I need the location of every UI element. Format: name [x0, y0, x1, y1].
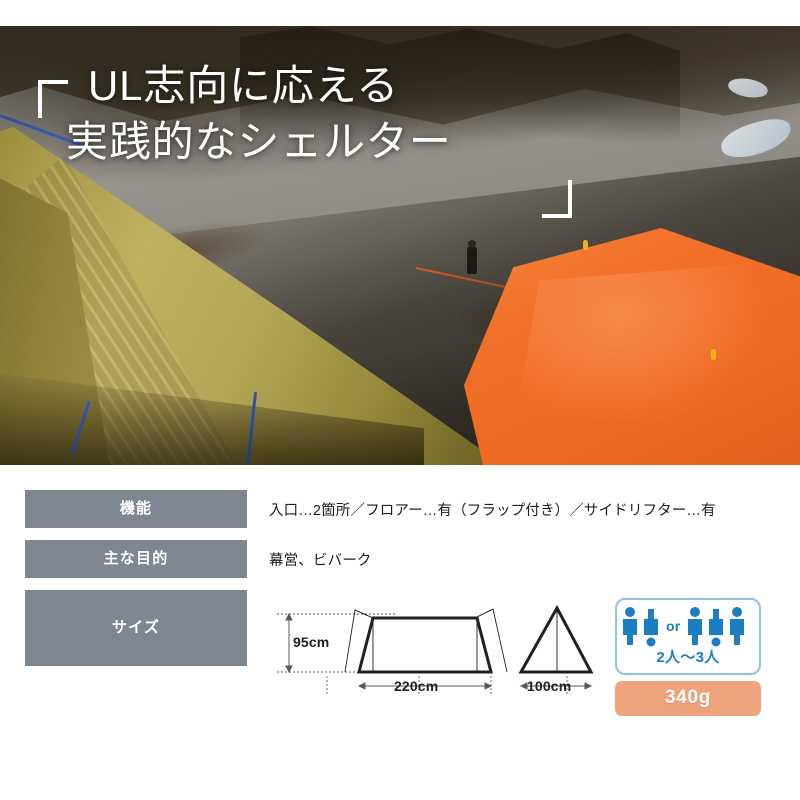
front-width-label: 220cm — [394, 678, 438, 694]
side-width-label: 100cm — [527, 678, 571, 694]
capacity-people-icons: or — [617, 605, 757, 649]
hero-headline-line-2: 実践的なシェルター — [30, 114, 590, 170]
person-icon-3 — [730, 607, 744, 645]
spec-value-features: 入口…2箇所／フロアー…有（フラップ付き）／サイドリフター…有 — [247, 490, 800, 523]
person-icon-inverted-1 — [644, 609, 658, 647]
hero-headline-line-1: UL志向に応える — [30, 58, 590, 114]
capacity-weight-block: or — [615, 598, 761, 716]
side-view-body — [521, 608, 591, 672]
person-icon-2 — [688, 607, 702, 645]
front-view-body — [359, 618, 491, 672]
quote-close-mark — [542, 180, 572, 218]
capacity-or-label: or — [666, 618, 681, 634]
spec-row-features: 機能 入口…2箇所／フロアー…有（フラップ付き）／サイドリフター…有 — [0, 490, 800, 528]
hiker-figure — [467, 246, 477, 274]
spec-value-purpose: 幕営、ビバーク — [247, 540, 800, 573]
spec-row-size: サイズ 95cm — [0, 590, 800, 716]
front-height-label: 95cm — [293, 634, 329, 650]
size-dimension-drawing: 95cm 220cm — [269, 594, 599, 704]
spec-label-features: 機能 — [25, 490, 247, 528]
person-icon-1 — [623, 607, 637, 645]
spec-row-purpose: 主な目的 幕営、ビバーク — [0, 540, 800, 578]
person-icon-inverted-2 — [709, 609, 723, 647]
quote-open-mark — [38, 80, 68, 118]
orange-tarp-sheen — [512, 263, 784, 439]
spec-value-size: 95cm 220cm — [247, 590, 800, 716]
spec-label-purpose: 主な目的 — [25, 540, 247, 578]
capacity-card: or — [615, 598, 761, 675]
capacity-count-label: 2人〜3人 — [617, 647, 759, 670]
tarp-tab-upper — [583, 240, 588, 250]
hero-photo: UL志向に応える 実践的なシェルター — [0, 26, 800, 465]
weight-badge: 340g — [615, 681, 761, 717]
tarp-tab-lower — [711, 349, 716, 360]
spec-table: 機能 入口…2箇所／フロアー…有（フラップ付き）／サイドリフター…有 主な目的 … — [0, 490, 800, 728]
hero-headline: UL志向に応える 実践的なシェルター — [30, 58, 590, 170]
spec-label-size: サイズ — [25, 590, 247, 666]
